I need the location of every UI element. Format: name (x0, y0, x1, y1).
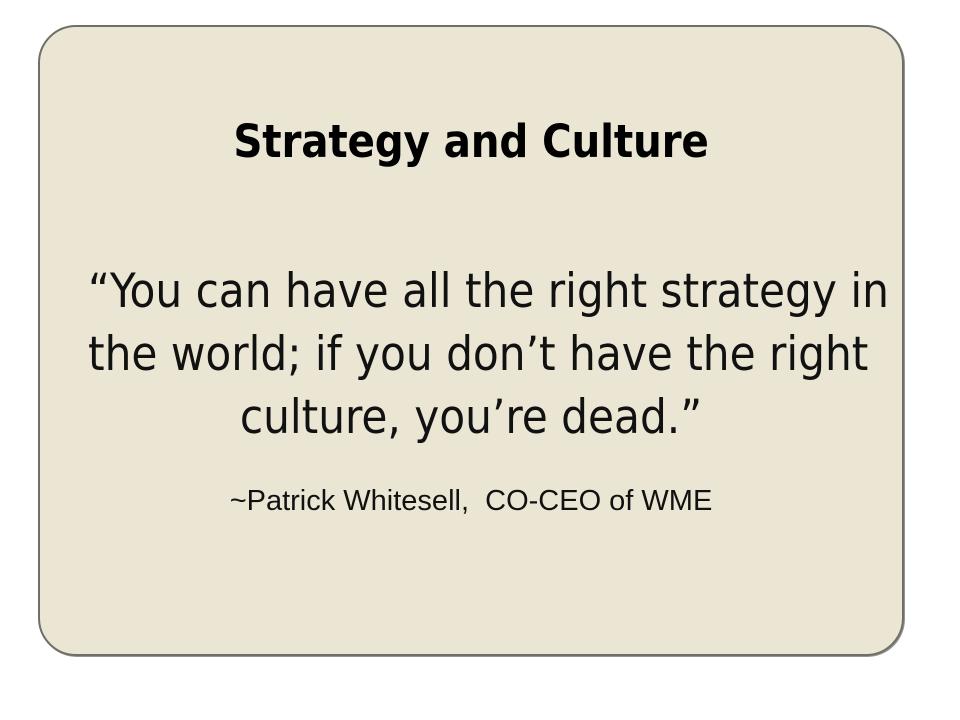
quote-text: “You can have all the right strategy in … (88, 260, 854, 449)
quote-attribution: ~Patrick Whitesell, CO-CEO of WME (40, 482, 902, 520)
quote-card: Strategy and Culture “You can have all t… (38, 25, 904, 656)
slide-canvas: Strategy and Culture “You can have all t… (0, 0, 960, 720)
quote-line: “You can have all the right strategy in (88, 260, 854, 323)
page-title: Strategy and Culture (40, 115, 902, 169)
quote-card-content: Strategy and Culture “You can have all t… (40, 27, 902, 654)
quote-line: culture, you’re dead.” (88, 386, 854, 449)
quote-line: the world; if you don’t have the right (88, 323, 854, 386)
